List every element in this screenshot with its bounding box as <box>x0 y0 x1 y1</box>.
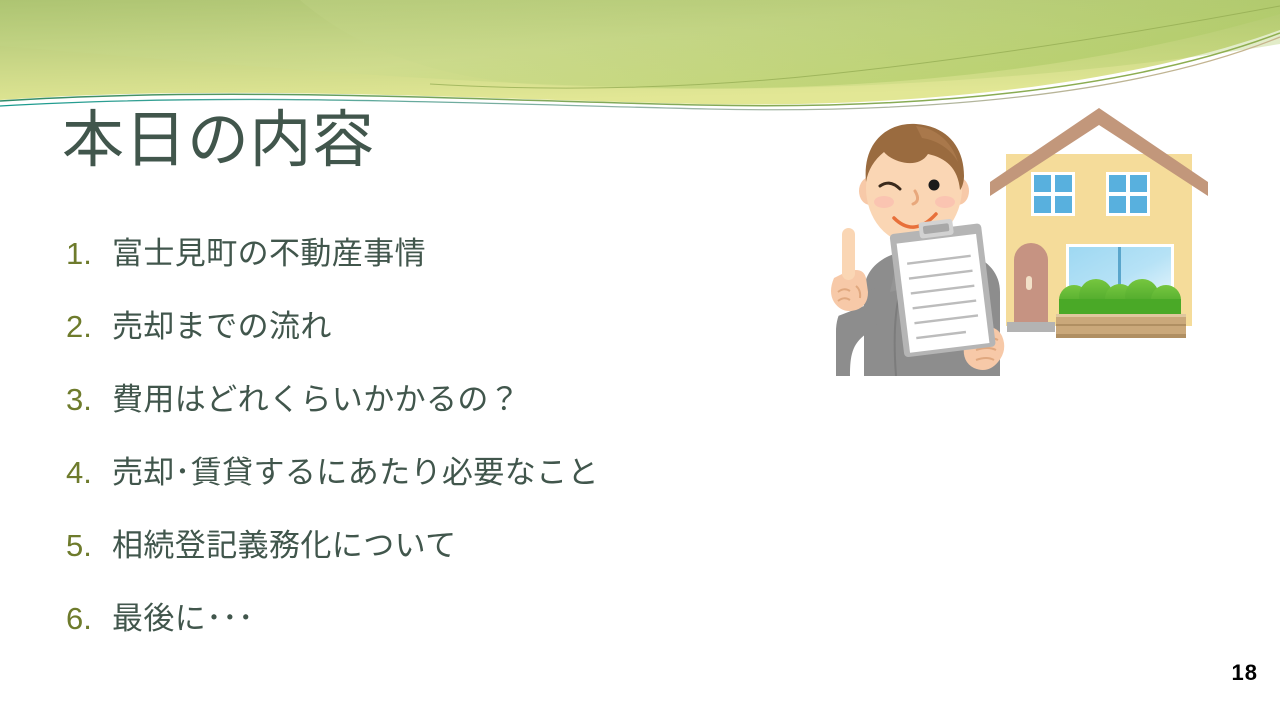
businessman-graphic <box>831 124 1004 376</box>
list-item-number: 3. <box>66 382 112 418</box>
list-item-label: 相続登記義務化について <box>112 520 456 565</box>
pointing-hand <box>831 228 868 311</box>
slide-canvas: 本日の内容 1. 富士見町の不動産事情 2. 売却までの流れ 3. 費用はどれく… <box>0 0 1280 720</box>
list-item[interactable]: 1. 富士見町の不動産事情 <box>66 228 826 301</box>
page-title: 本日の内容 <box>62 108 375 173</box>
agenda-list: 1. 富士見町の不動産事情 2. 売却までの流れ 3. 費用はどれくらいかかるの… <box>66 228 826 666</box>
list-item-number: 5. <box>66 528 112 564</box>
list-item[interactable]: 4. 売却･賃貸するにあたり必要なこと <box>66 447 826 520</box>
list-item-label: 富士見町の不動産事情 <box>112 228 426 273</box>
list-item[interactable]: 5. 相続登記義務化について <box>66 520 826 593</box>
house-window-upper-right <box>1106 172 1150 216</box>
list-item-number: 1. <box>66 236 112 272</box>
list-item[interactable]: 2. 売却までの流れ <box>66 301 826 374</box>
house-window-upper-left <box>1031 172 1075 216</box>
list-item[interactable]: 3. 費用はどれくらいかかるの？ <box>66 374 826 447</box>
list-item[interactable]: 6. 最後に･･･ <box>66 593 826 666</box>
page-number: 18 <box>1232 660 1258 686</box>
list-item-number: 4. <box>66 455 112 491</box>
clipboard <box>888 215 995 357</box>
businessman-with-house-illustration <box>818 96 1208 376</box>
list-item-number: 6. <box>66 601 112 637</box>
list-item-label: 費用はどれくらいかかるの？ <box>112 374 520 419</box>
list-item-label: 売却までの流れ <box>112 301 332 346</box>
list-item-label: 売却･賃貸するにあたり必要なこと <box>112 447 599 492</box>
planter-box <box>1056 314 1186 338</box>
list-item-number: 2. <box>66 309 112 345</box>
list-item-label: 最後に･･･ <box>112 593 254 638</box>
house-graphic <box>990 108 1208 338</box>
